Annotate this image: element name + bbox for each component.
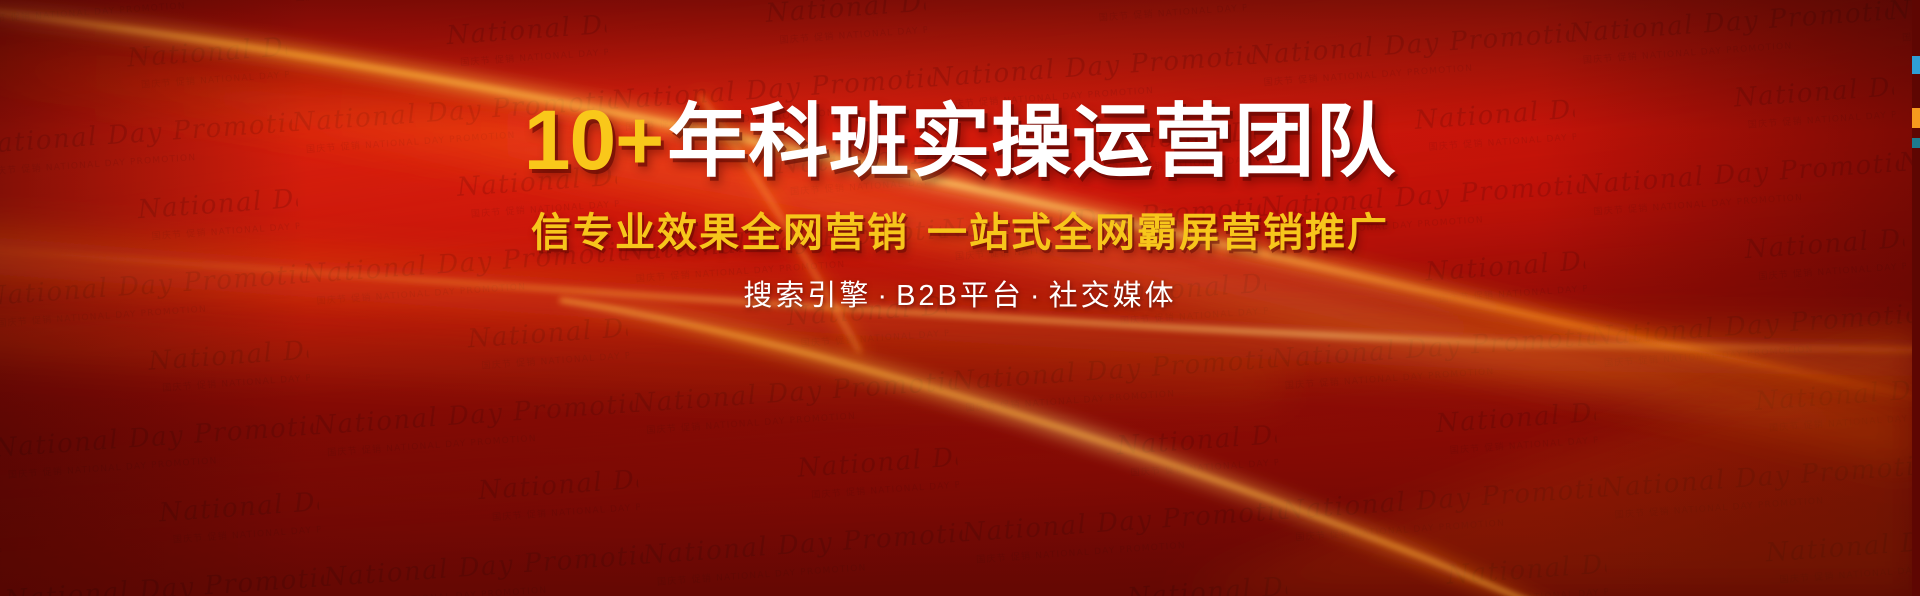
banner-content: 10+年科班实操运营团队 信专业效果全网营销一站式全网霸屏营销推广 搜索引擎·B…	[0, 96, 1920, 314]
headline: 10+年科班实操运营团队	[0, 96, 1920, 185]
right-edge-sliver	[1912, 0, 1920, 596]
edge-chip-orange	[1912, 108, 1920, 128]
tagline: 搜索引擎·B2B平台·社交媒体	[0, 279, 1920, 314]
edge-chip-blue	[1912, 56, 1920, 74]
subline-right: 一站式全网霸屏营销推广	[927, 211, 1389, 255]
subline-left: 信专业效果全网营销	[531, 211, 909, 255]
headline-text: 年科班实操运营团队	[667, 97, 1396, 186]
tagline-separator-1: ·	[871, 279, 896, 314]
tagline-item-b2b-platform: B2B平台	[896, 280, 1024, 312]
promotional-banner: National Day Promotion 国庆节 促销 NATIONAL D…	[0, 0, 1920, 596]
tagline-item-search-engine: 搜索引擎	[743, 280, 871, 312]
tagline-separator-2: ·	[1024, 279, 1049, 314]
tagline-item-social-media: 社交媒体	[1049, 280, 1177, 312]
edge-chip-teal	[1912, 138, 1920, 148]
subline: 信专业效果全网营销一站式全网霸屏营销推广	[0, 209, 1920, 257]
headline-number: 10+	[524, 93, 664, 187]
